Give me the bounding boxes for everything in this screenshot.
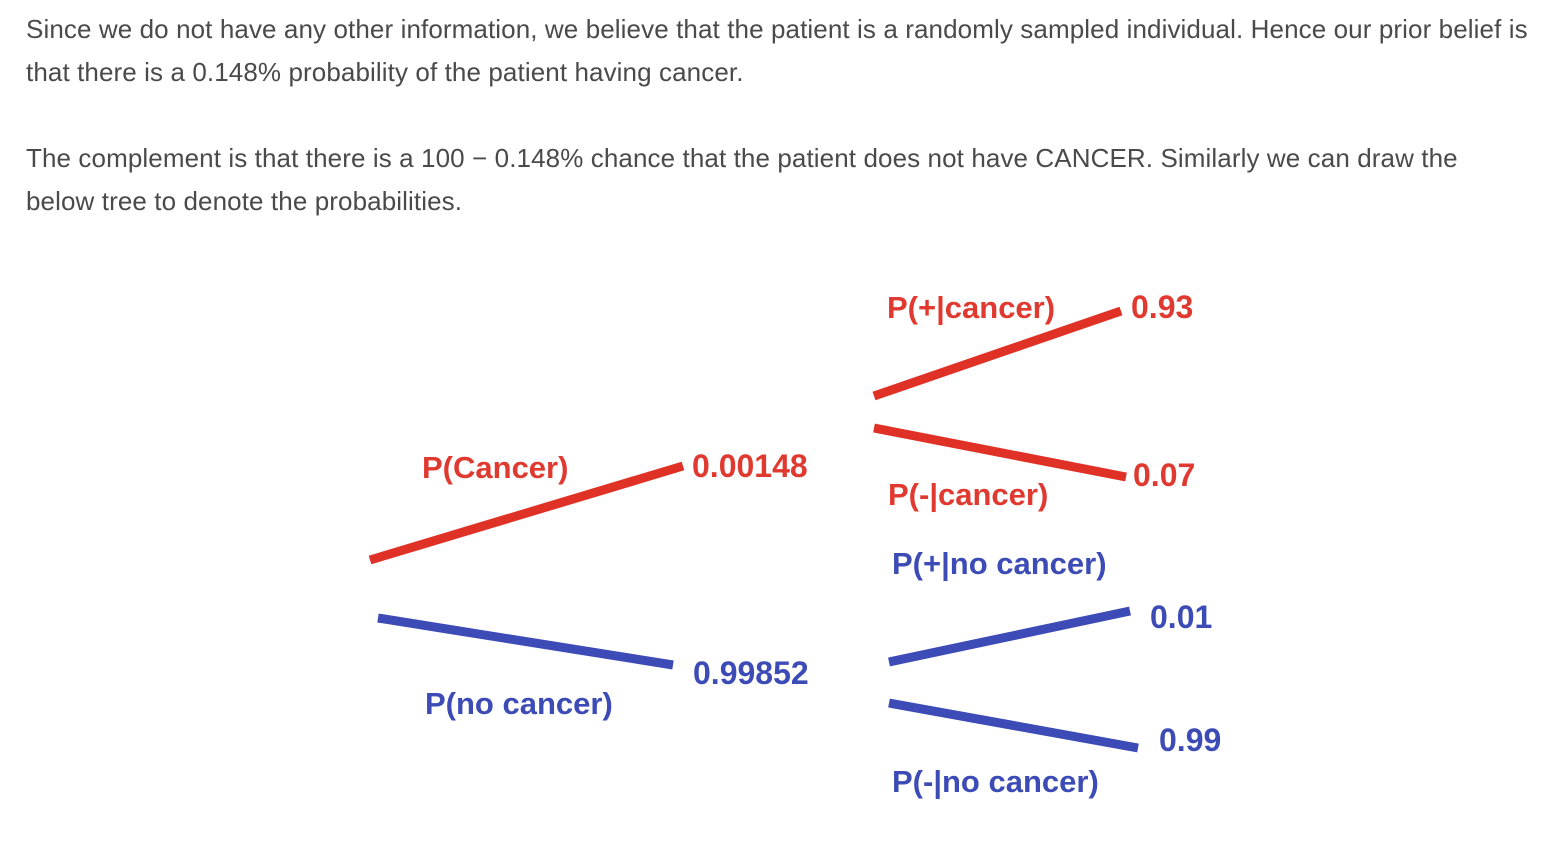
value-p-pos-given-cancer: 0.93 bbox=[1131, 291, 1193, 323]
value-p-neg-given-cancer: 0.07 bbox=[1133, 459, 1195, 491]
paragraph-prior: Since we do not have any other informati… bbox=[26, 8, 1532, 94]
label-p-no-cancer: P(no cancer) bbox=[425, 688, 613, 719]
label-p-neg-given-no-cancer: P(-|no cancer) bbox=[892, 766, 1099, 797]
value-p-pos-given-no-cancer: 0.01 bbox=[1150, 601, 1212, 633]
branch-line-pos-given-no-cancer bbox=[889, 611, 1130, 662]
probability-tree-diagram: P(Cancer) 0.00148 P(no cancer) 0.99852 P… bbox=[0, 230, 1562, 854]
paragraph-complement: The complement is that there is a 100 − … bbox=[26, 137, 1532, 223]
branch-line-neg-given-cancer bbox=[874, 428, 1126, 477]
label-p-cancer: P(Cancer) bbox=[422, 452, 568, 483]
value-p-no-cancer: 0.99852 bbox=[693, 657, 809, 689]
label-p-pos-given-no-cancer: P(+|no cancer) bbox=[892, 548, 1107, 579]
label-p-neg-given-cancer: P(-|cancer) bbox=[888, 479, 1048, 510]
article-text: Since we do not have any other informati… bbox=[26, 8, 1532, 223]
branch-line-no-cancer bbox=[378, 618, 673, 665]
value-p-cancer: 0.00148 bbox=[692, 450, 808, 482]
label-p-pos-given-cancer: P(+|cancer) bbox=[887, 292, 1055, 323]
branch-line-neg-given-no-cancer bbox=[889, 703, 1138, 748]
value-p-neg-given-no-cancer: 0.99 bbox=[1159, 724, 1221, 756]
